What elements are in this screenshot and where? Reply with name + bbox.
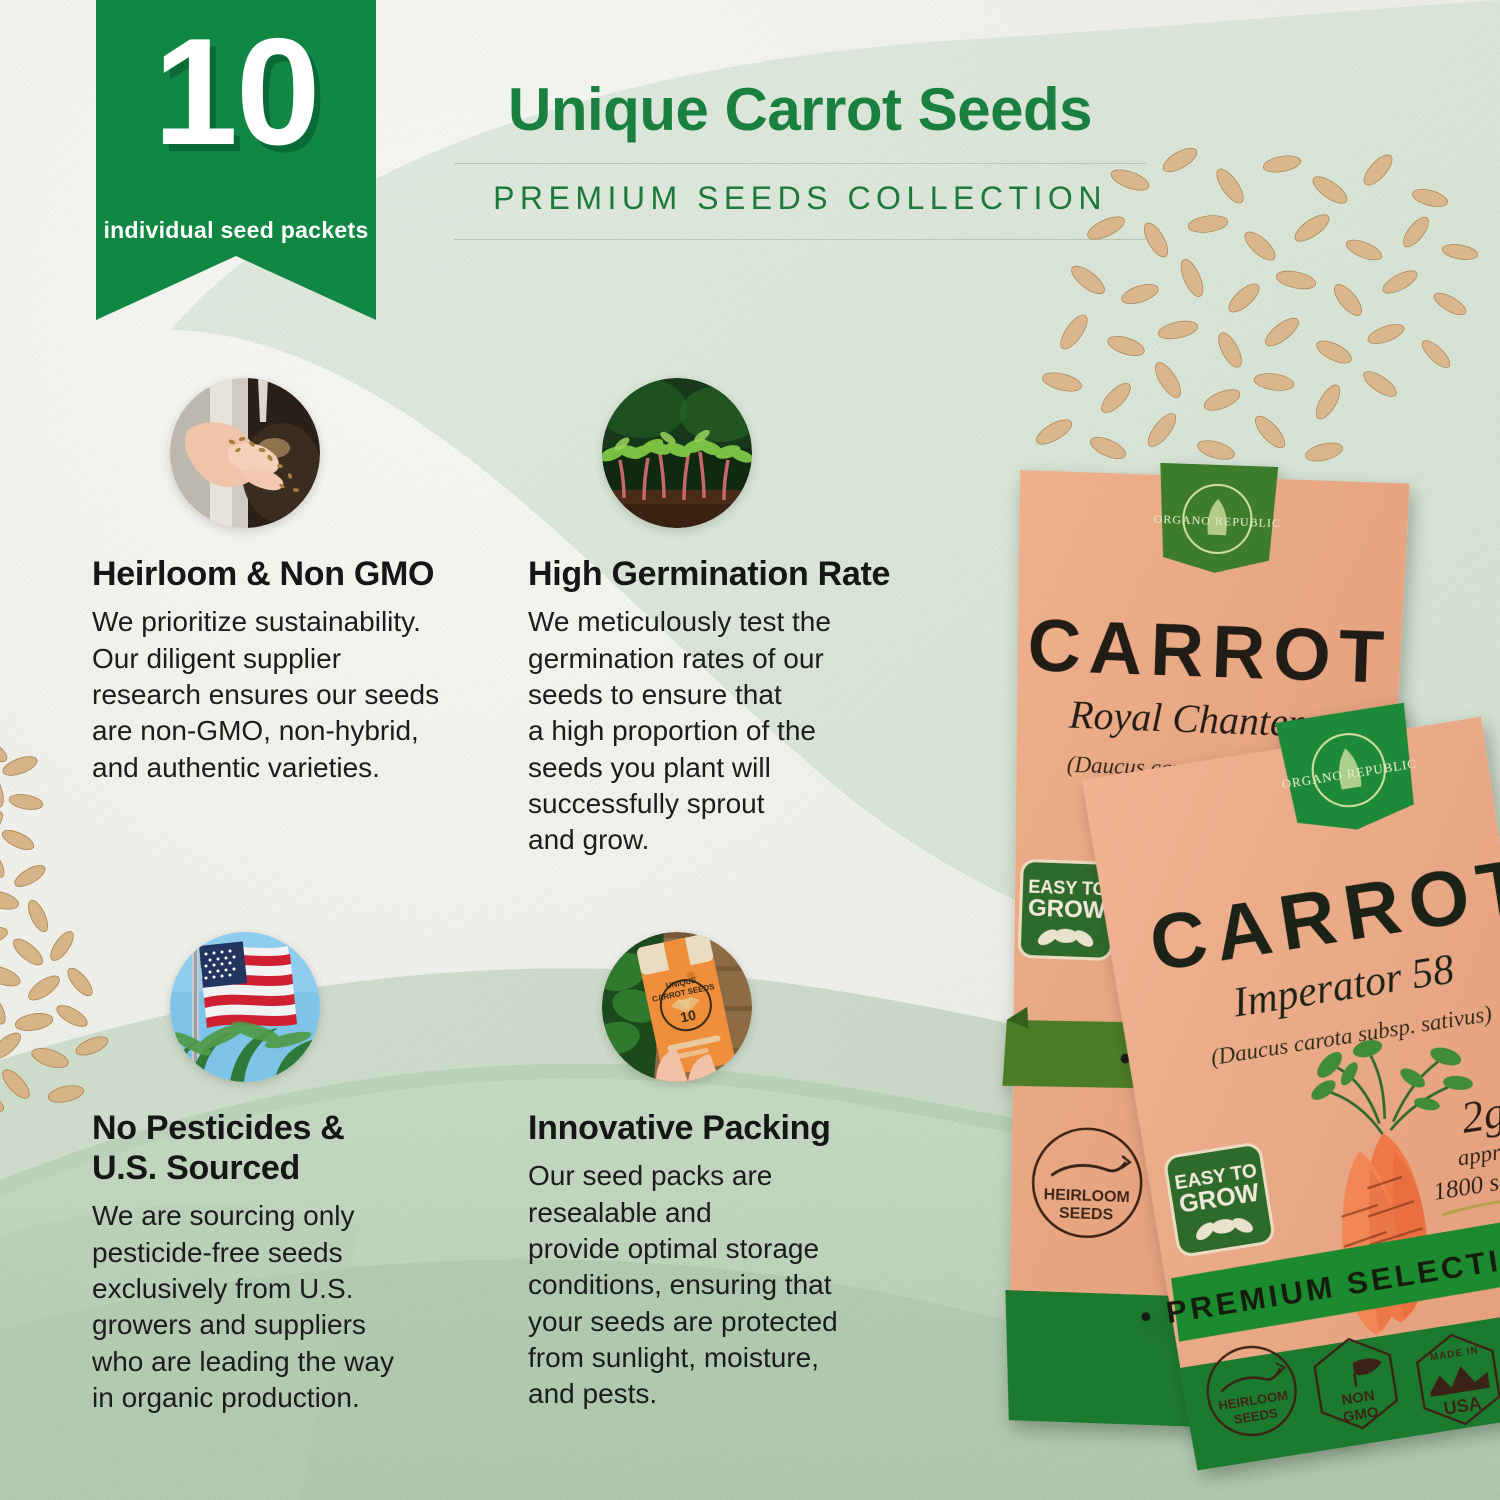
us-flag-icon (170, 932, 320, 1082)
svg-text:GROW: GROW (1028, 895, 1107, 925)
infographic-canvas: 10 individual seed packets Unique Carrot… (0, 0, 1500, 1500)
seed-scatter-left-decoration (0, 740, 180, 1120)
feature-heading: Heirloom & Non GMO (92, 554, 492, 594)
svg-text:SEEDS: SEEDS (1059, 1205, 1114, 1224)
carrot-seed-pile (1033, 144, 1479, 517)
seed-packets-group: ORGANO REPUBLIC CARROT Royal Chantenay (… (830, 120, 1500, 1500)
easy-to-grow-badge: EASY TO GROW (1164, 1143, 1274, 1257)
packet-count-number: 10 (96, 16, 376, 168)
seed-pouch-icon: UNIQUE CARROT SEEDS 10 (602, 932, 752, 1082)
hand-with-seeds-icon (170, 378, 320, 528)
feature-body: We are sourcing only pesticide-free seed… (92, 1198, 492, 1416)
packet-brand-label: ORGANO REPUBLIC (1152, 463, 1283, 575)
packet-crop-name: CARROT (1026, 603, 1393, 699)
packet-weight: 2g (1458, 1087, 1500, 1142)
feature-heading: No Pesticides & U.S. Sourced (92, 1108, 492, 1188)
packet-count-label: individual seed packets (96, 215, 376, 247)
seedlings-icon (602, 378, 752, 528)
feature-heirloom-non-gmo: Heirloom & Non GMO We prioritize sustain… (92, 378, 492, 786)
svg-text:HEIRLOOM: HEIRLOOM (1043, 1186, 1130, 1206)
